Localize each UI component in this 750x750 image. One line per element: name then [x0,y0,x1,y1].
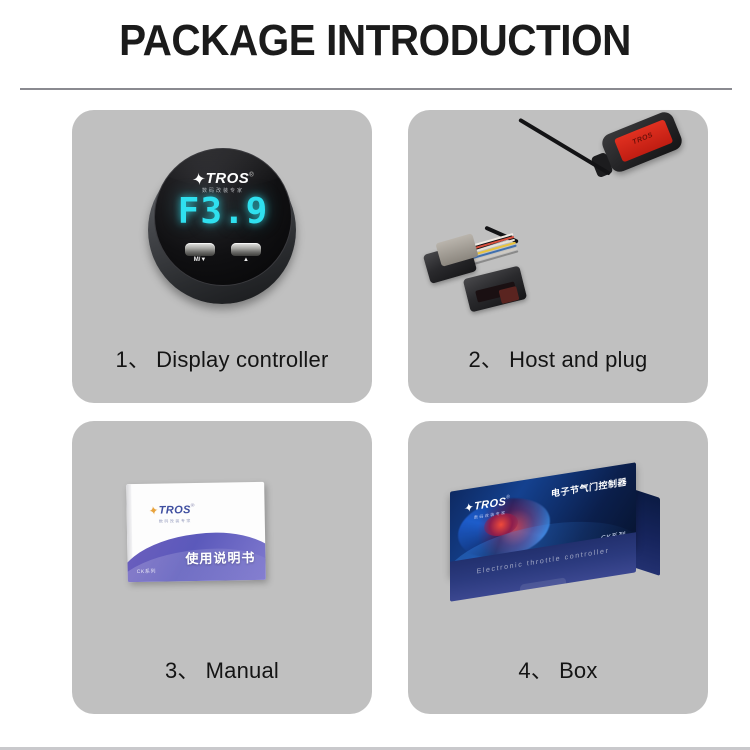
star-icon: ✦ [463,500,475,515]
manual-illustration: ✦TROS® 数码改装专家 使用说明书 CK系列 [72,421,372,649]
package-items-grid: ✦TROS® 数码改装专家 F3.9 M/▼ ▲ 1、Displa [0,110,750,750]
dial-button-row: M/▼ ▲ [155,243,291,256]
card-number: 3、 [165,658,200,683]
box-illustration: ✦TROS® 数码改装专家 电子节气门控制器 CK系列 Electronic t… [408,421,708,649]
manual-booklet: ✦TROS® 数码改装专家 使用说明书 CK系列 [126,482,266,582]
card-label-box: 4、Box [408,653,708,685]
brand-mark: TROS [159,504,191,517]
page-header: PACKAGE INTRODUCTION [0,0,750,90]
box-front-tab [520,577,566,592]
host-module-label: TROS [614,119,673,162]
star-icon: ✦ [191,170,207,189]
display-readout: F3.9 [155,191,291,232]
box-product-title: 电子节气门控制器 [551,475,627,500]
card-number: 4、 [518,658,553,683]
package-item-card-host-and-plug[interactable]: TROS 2、Host and plug [408,110,708,403]
card-label-text: Manual [206,658,279,683]
connector-plug-male-keying [499,286,520,304]
package-item-card-display-controller[interactable]: ✦TROS® 数码改装专家 F3.9 M/▼ ▲ 1、Displa [72,110,372,403]
host-and-plug-illustration: TROS [408,110,708,338]
retail-box: ✦TROS® 数码改装专家 电子节气门控制器 CK系列 Electronic t… [450,477,665,605]
card-label-text: Box [559,658,598,683]
mode-down-button[interactable]: M/▼ [185,243,215,256]
card-label-host-and-plug: 2、Host and plug [408,342,708,374]
card-number: 2、 [468,347,503,372]
brand-mark: TROS [206,170,250,187]
card-label-display-controller: 1、Display controller [72,342,372,374]
page-title: PACKAGE INTRODUCTION [30,16,720,66]
registered-icon: ® [249,173,253,179]
card-label-text: Host and plug [509,347,647,372]
up-button-caption: ▲ [227,257,265,263]
card-label-manual: 3、Manual [72,653,372,685]
dial-controller: ✦TROS® 数码改装专家 F3.9 M/▼ ▲ [146,146,298,306]
star-icon: ✦ [148,504,160,517]
registered-icon: ® [506,494,510,501]
display-controller-illustration: ✦TROS® 数码改装专家 F3.9 M/▼ ▲ [72,110,372,338]
brand-subtitle: 数码改装专家 [159,519,195,524]
package-item-card-manual[interactable]: ✦TROS® 数码改装专家 使用说明书 CK系列 3、Manual [72,421,372,714]
mode-down-button-caption: M/▼ [181,257,219,263]
manual-brand-logo: ✦TROS® 数码改装专家 [148,501,194,524]
title-divider [20,88,732,90]
registered-icon: ® [191,503,195,509]
host-brand-mark: TROS [617,126,670,153]
package-item-card-box[interactable]: ✦TROS® 数码改装专家 电子节气门控制器 CK系列 Electronic t… [408,421,708,714]
main-cable [518,118,611,176]
manual-cover-title: 使用说明书 [185,547,255,567]
card-number: 1、 [116,347,151,372]
card-label-text: Display controller [156,347,328,372]
up-button[interactable]: ▲ [231,243,261,256]
host-module: TROS [599,109,684,175]
dial-face: ✦TROS® 数码改装专家 F3.9 M/▼ ▲ [154,148,292,286]
manual-series-code: CK系列 [137,568,156,575]
